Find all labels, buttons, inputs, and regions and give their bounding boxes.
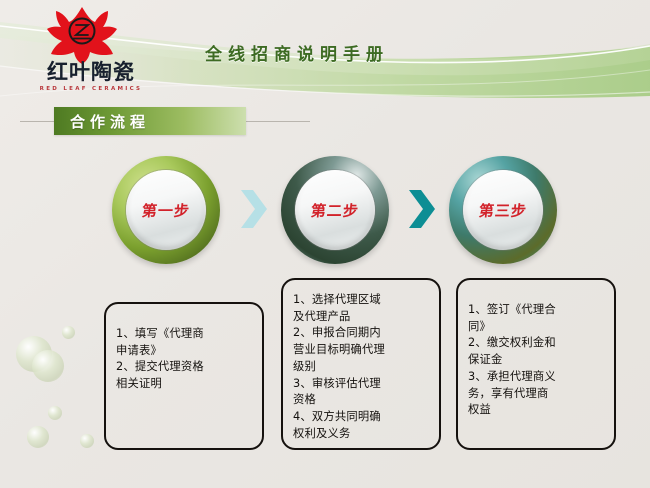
detail-line: 1、填写《代理商 [116, 326, 253, 343]
brand-name-cn: 红叶陶瓷 [32, 62, 150, 83]
step-1-label: 第一步 [141, 200, 191, 221]
bubble-icon [80, 434, 94, 448]
chevron-right-icon [239, 186, 273, 232]
bubble-icon [48, 406, 62, 420]
detail-line: 2、提交代理资格 [116, 359, 253, 376]
detail-line: 2、缴交权利金和 [468, 335, 605, 352]
detail-line: 营业目标明确代理 [293, 342, 430, 359]
detail-line: 级别 [293, 359, 430, 376]
page-title: 全线招商说明手册 [205, 40, 389, 65]
section-title: 合作流程 [70, 111, 150, 132]
step-3-detail-text: 1、签订《代理合 同》 2、缴交权利金和 保证金 3、承担代理商义 务，享有代理… [458, 280, 614, 419]
detail-line: 资格 [293, 392, 430, 409]
step-circle-1-inner: 第一步 [126, 170, 206, 250]
detail-line: 申请表》 [116, 343, 253, 360]
section-banner: 合作流程 [20, 106, 310, 136]
slide-canvas: 红叶陶瓷 RED LEAF CERAMICS 全线招商说明手册 合作流程 第一步… [0, 0, 650, 488]
bubble-icon [62, 326, 75, 339]
detail-line: 2、申报合同期内 [293, 325, 430, 342]
detail-line: 1、选择代理区域 [293, 292, 430, 309]
step-2-detail-text: 1、选择代理区域 及代理产品 2、申报合同期内 营业目标明确代理 级别 3、审核… [283, 280, 439, 442]
arrow-step1-to-step2 [239, 186, 273, 232]
detail-line: 4、双方共同明确 [293, 409, 430, 426]
maple-leaf-icon [46, 6, 118, 64]
detail-line: 及代理产品 [293, 309, 430, 326]
brand-logo: 红叶陶瓷 RED LEAF CERAMICS [12, 4, 152, 100]
step-circle-2: 第二步 [281, 156, 389, 264]
brand-name-en: RED LEAF CERAMICS [30, 86, 152, 92]
detail-line: 同》 [468, 319, 605, 336]
detail-line: 1、签订《代理合 [468, 302, 605, 319]
step-circle-2-inner: 第二步 [295, 170, 375, 250]
step-3-detail-box: 1、签订《代理合 同》 2、缴交权利金和 保证金 3、承担代理商义 务，享有代理… [456, 278, 616, 450]
step-circle-3-inner: 第三步 [463, 170, 543, 250]
detail-line: 3、审核评估代理 [293, 376, 430, 393]
decorative-bubbles [0, 320, 130, 488]
step-2-label: 第二步 [310, 200, 360, 221]
bubble-icon [32, 350, 64, 382]
bubble-icon [27, 426, 49, 448]
step-2-detail-box: 1、选择代理区域 及代理产品 2、申报合同期内 营业目标明确代理 级别 3、审核… [281, 278, 441, 450]
detail-line: 3、承担代理商义 [468, 369, 605, 386]
detail-line: 保证金 [468, 352, 605, 369]
step-3-label: 第三步 [478, 200, 528, 221]
detail-line: 务，享有代理商 [468, 386, 605, 403]
detail-line: 权利及义务 [293, 426, 430, 443]
banner-rule-right [244, 121, 310, 122]
chevron-right-icon [407, 186, 441, 232]
detail-line: 相关证明 [116, 376, 253, 393]
banner-rule-left [20, 121, 58, 122]
step-circle-1: 第一步 [112, 156, 220, 264]
arrow-step2-to-step3 [407, 186, 441, 232]
detail-line: 权益 [468, 402, 605, 419]
step-circle-3: 第三步 [449, 156, 557, 264]
